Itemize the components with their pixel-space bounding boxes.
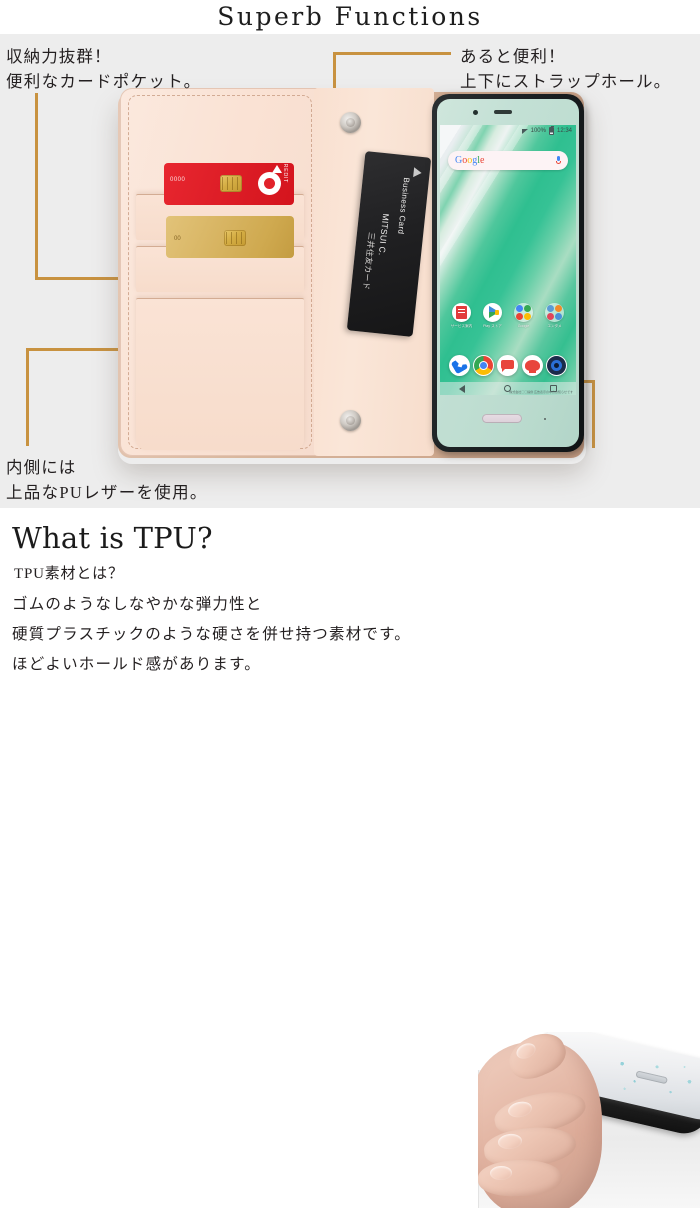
gold-card-label: 00 xyxy=(174,236,181,242)
callout-line: 便利なカードポケット。 xyxy=(6,69,201,94)
media-folder xyxy=(545,303,564,322)
status-bar: 100% 12:34 xyxy=(440,125,576,136)
strap-hole-snap-bottom xyxy=(340,410,361,431)
chrome-icon[interactable] xyxy=(473,355,494,376)
camera-icon[interactable] xyxy=(546,355,567,376)
business-card-label-jp: 三井住友カード xyxy=(360,232,377,291)
leader-line-strap-horizontal xyxy=(333,52,451,55)
app-label: サービス案内 xyxy=(451,324,473,329)
app-item[interactable]: Google xyxy=(512,303,536,329)
tpu-explainer-section: What is TPU? TPU素材とは？ ゴムのようなしなやかな弾力性と 硬質… xyxy=(0,508,700,700)
messages-icon[interactable] xyxy=(497,355,518,376)
sharp-icon[interactable] xyxy=(522,355,543,376)
red-doc-icon xyxy=(452,303,471,322)
battery-percent-label: 100% xyxy=(531,128,546,134)
app-item[interactable]: エンタメ xyxy=(543,303,567,329)
google-search-widget[interactable]: Google xyxy=(448,151,568,170)
nav-bar-note: 株式会社◯◯提供 広告表示の中のお知らせです xyxy=(509,390,573,394)
google-logo: Google xyxy=(455,156,484,166)
microphone-icon[interactable] xyxy=(556,156,561,165)
callout-line: 内側には xyxy=(6,455,208,480)
leader-line-card-pocket-vertical xyxy=(35,93,38,280)
page-title: Superb Functions xyxy=(0,2,700,31)
back-icon[interactable] xyxy=(459,385,465,393)
home-button[interactable] xyxy=(482,414,522,423)
tpu-body-line: ほどよいホールド感があります。 xyxy=(12,650,411,680)
leader-line-pu-vertical xyxy=(26,348,29,446)
app-label: Google xyxy=(518,324,530,328)
play-store-icon xyxy=(483,303,502,322)
callout-line: 上品なPUレザーを使用。 xyxy=(6,480,208,505)
front-camera-icon xyxy=(473,110,478,115)
business-card-arrow-icon xyxy=(413,167,422,178)
smartphone: 100% 12:34 Google xyxy=(432,94,584,452)
red-card-brand: CREDIT xyxy=(282,163,288,183)
dock xyxy=(440,355,576,376)
business-card-label-en: Business Card xyxy=(396,177,411,235)
features-section: Superb Functions xyxy=(0,0,700,508)
google-folder xyxy=(514,303,533,322)
signal-icon xyxy=(522,129,528,134)
app-label: エンタメ xyxy=(547,324,561,329)
card-chip-icon xyxy=(220,175,242,192)
tpu-body-line: 硬質プラスチックのような硬さを併せ持つ素材です。 xyxy=(12,620,411,650)
phone-icon[interactable] xyxy=(449,355,470,376)
gold-credit-card: 00 xyxy=(166,216,294,258)
app-grid: サービス案内 Play ストア xyxy=(440,303,576,329)
app-item[interactable]: サービス案内 xyxy=(450,303,474,329)
card-pocket-3 xyxy=(136,298,304,450)
callout-strap-hole: あると便利！ 上下にストラップホール。 xyxy=(460,44,671,94)
battery-icon xyxy=(549,127,554,135)
strap-hole-snap-top xyxy=(340,112,361,133)
callout-pu-leather: 内側には 上品なPUレザーを使用。 xyxy=(6,455,208,505)
app-label: Play ストア xyxy=(483,324,502,329)
red-credit-card: 0000 CREDIT xyxy=(164,163,294,205)
tpu-body-line: ゴムのようなしなやかな弾力性と xyxy=(12,590,411,620)
tpu-heading: What is TPU? xyxy=(12,521,213,555)
phone-screen: 100% 12:34 Google xyxy=(440,125,576,395)
case-left-leaf: 0000 CREDIT 00 xyxy=(120,88,320,456)
gold-card-chip-icon xyxy=(224,230,246,246)
callout-line: 収納力抜群！ xyxy=(6,44,201,69)
microphone-hole xyxy=(544,418,546,420)
clock-label: 12:34 xyxy=(557,128,572,134)
callout-line: 上下にストラップホール。 xyxy=(460,69,671,94)
earpiece-speaker xyxy=(494,110,512,114)
android-nav-bar: 株式会社◯◯提供 広告表示の中のお知らせです xyxy=(440,382,576,395)
card-logo-inner xyxy=(264,178,275,189)
callout-line: あると便利！ xyxy=(460,44,671,69)
red-card-number: 0000 xyxy=(170,177,185,183)
leader-line-tpu-vertical xyxy=(592,380,595,448)
app-item[interactable]: Play ストア xyxy=(481,303,505,329)
tpu-subheading: TPU素材とは？ xyxy=(14,562,124,583)
callout-card-pocket: 収納力抜群！ 便利なカードポケット。 xyxy=(6,44,201,94)
tpu-body-text: ゴムのようなしなやかな弾力性と 硬質プラスチックのような硬さを併せ持つ素材です。… xyxy=(12,590,411,680)
business-card-label-brand: MITSUI C. xyxy=(377,213,391,256)
hand-holding-tpu-case-photo xyxy=(478,1032,700,1208)
wallet-case-photo: 0000 CREDIT 00 Business Card MITSUI C. 三… xyxy=(118,88,586,462)
